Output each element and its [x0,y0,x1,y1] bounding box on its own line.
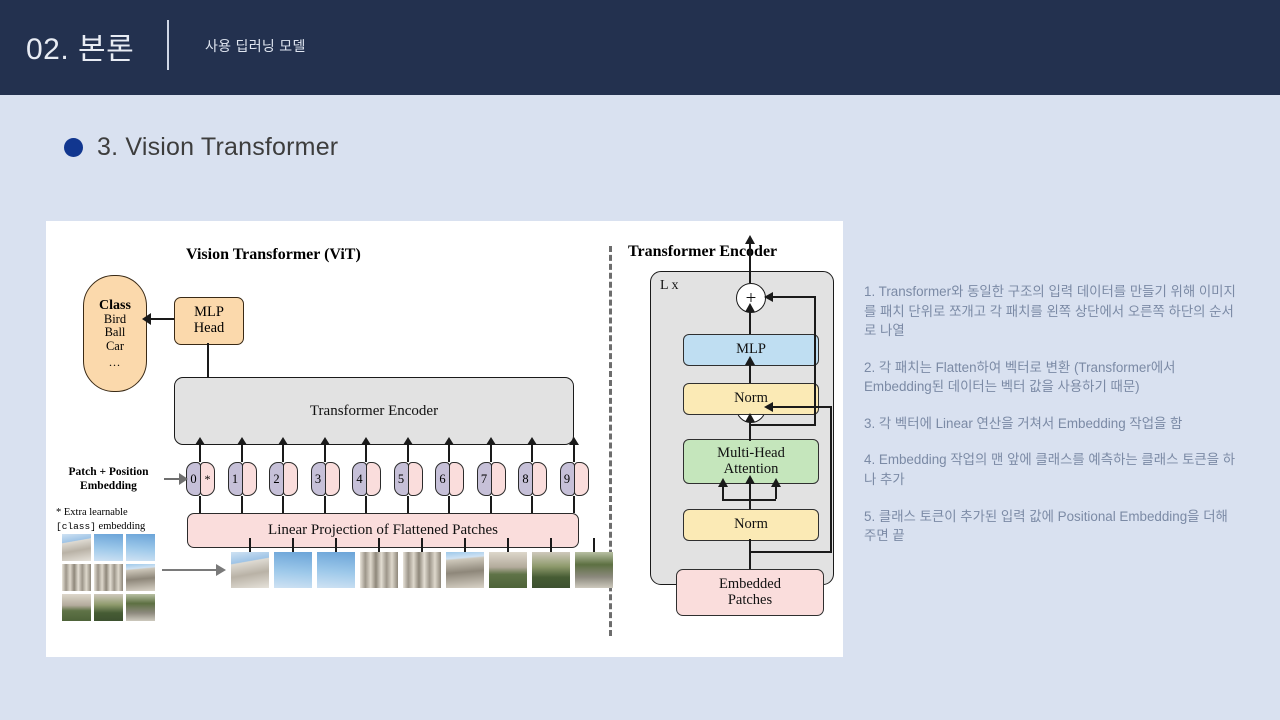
patch-token-8: 8 [518,462,548,496]
linear-projection-box: Linear Projection of Flattened Patches [187,513,579,548]
mlp-head-line1: MLP [194,305,224,321]
encoder-block-embedded-patches: Embedded Patches [676,569,824,616]
residual-skip-bottom-horizontal [773,406,832,408]
residual-skip-bottom-tap [749,551,832,553]
token-up-arrow-icon [407,444,409,462]
image-patch-cell [126,534,155,561]
token-up-arrow-icon [531,444,533,462]
note-item-2: 2. 각 패치는 Flatten하여 벡터로 변환 (Transformer에서… [864,358,1236,397]
class-item-ball: Ball [105,326,126,340]
token-up-arrow-icon [282,444,284,462]
patch-token-3: 3 [311,462,341,496]
flattened-patch [274,552,312,588]
pp-label-line1: Patch + Position [68,466,148,478]
residual-skip-top-tap [749,424,816,426]
flattened-patch [532,552,570,588]
note-item-3: 3. 각 벡터에 Linear 연산을 거쳐서 Embedding 작업을 함 [864,414,1236,434]
token-down-stem [199,496,201,513]
token-down-stem [448,496,450,513]
connector-norm1-to-mlp [749,364,751,383]
token-up-arrow-icon [365,444,367,462]
arrow-label-to-tokens [164,478,180,480]
note-item-4: 4. Embedding 작업의 맨 앞에 클래스를 예측하는 클래스 토큰을 … [864,450,1236,489]
mlp-head-box: MLP Head [174,297,244,345]
patch-token-0: 0* [186,462,216,496]
image-patch-cell [62,594,91,621]
token-down-stem [241,496,243,513]
patch-token-5: 5 [394,462,424,496]
token-position-half: 0 [186,462,201,496]
token-position-half: 2 [269,462,284,496]
token-down-stem [490,496,492,513]
residual-skip-bottom-vertical [830,407,832,552]
token-position-half: 8 [518,462,533,496]
image-patch-cell [94,534,123,561]
token-down-stem [407,496,409,513]
token-patch-half [574,462,589,496]
connector-emb-to-norm2 [749,539,751,569]
note-item-5: 5. 클래스 토큰이 추가된 입력 값에 Positional Embeddin… [864,507,1236,546]
figure-right-title: Transformer Encoder [628,243,777,261]
note-item-1: 1. Transformer와 동일한 구조의 입력 데이터를 만들기 위해 이… [864,282,1236,341]
flattened-patch-strip [231,552,613,588]
encoder-output-arrow [749,243,751,283]
patch-token-6: 6 [435,462,465,496]
patch-connector-stem [335,538,337,552]
bullet-dot-icon [64,138,83,157]
token-up-arrow-icon [573,444,575,462]
header-divider [167,20,169,70]
token-position-half: 5 [394,462,409,496]
token-patch-half [532,462,547,496]
figure-left-title: Vision Transformer (ViT) [186,246,361,264]
token-patch-half [491,462,506,496]
flattened-patch [446,552,484,588]
patch-token-7: 7 [477,462,507,496]
class-item-car: Car [106,340,124,354]
token-position-half: 3 [311,462,326,496]
mha-input-arrow-left [722,486,724,499]
embedded-patches-line2: Patches [728,593,772,609]
flattened-patch [360,552,398,588]
arrow-mlp-to-class-head-icon [142,313,151,325]
extra-learnable-note: * Extra learnable [class] embedding [56,506,166,533]
image-patch-cell [62,564,91,591]
page-title: 3. Vision Transformer [97,133,338,162]
token-patch-half [325,462,340,496]
patch-connector-stem [249,538,251,552]
token-patch-half [408,462,423,496]
encoder-block-norm-top: Norm [683,383,819,415]
token-down-stem [282,496,284,513]
encoder-repeat-label: L x [660,278,679,294]
image-patch-cell [94,594,123,621]
source-image-patch-grid [62,534,155,621]
token-patch-half [366,462,381,496]
image-patch-cell [94,564,123,591]
patch-connector-stem [593,538,595,552]
extra-note-tail: embedding [96,521,145,532]
token-up-arrow-icon [199,444,201,462]
slide-header-bar: 02. 본론 사용 딥러닝 모델 [0,0,1280,95]
token-position-half: 4 [352,462,367,496]
class-heading: Class [99,298,131,313]
page-title-row: 3. Vision Transformer [64,130,338,164]
token-down-stem [365,496,367,513]
patch-connector-stem [507,538,509,552]
token-up-arrow-icon [241,444,243,462]
token-down-stem [573,496,575,513]
patch-connector-stem [421,538,423,552]
pp-label-line2: Embedding [80,480,137,492]
extra-note-class-token: [class] [56,521,96,532]
header-subtitle: 사용 딥러닝 모델 [205,36,306,56]
token-up-arrow-icon [448,444,450,462]
mha-input-arrow-center [749,483,751,499]
header-section-number: 02. 본론 [26,24,134,68]
image-patch-cell [126,564,155,591]
token-patch-half [449,462,464,496]
encoder-block-norm-bottom: Norm [683,509,819,541]
patch-connector-stem [550,538,552,552]
class-ellipsis: ... [109,356,121,369]
token-position-half: 6 [435,462,450,496]
connector-mlp-to-encoder [207,343,209,377]
image-patch-cell [126,594,155,621]
extra-note-line1: * Extra learnable [56,507,128,518]
arrow-label-to-tokens-head-icon [179,473,188,485]
token-position-half: 9 [560,462,575,496]
flattened-patch [231,552,269,588]
token-position-half: 7 [477,462,492,496]
patch-connector-stem [292,538,294,552]
token-down-stem [324,496,326,513]
mlp-head-line2: Head [194,321,225,337]
token-patch-half: * [200,462,215,496]
flattened-patch [489,552,527,588]
patch-token-9: 9 [560,462,590,496]
patch-token-4: 4 [352,462,382,496]
patch-token-1: 1 [228,462,258,496]
patch-position-embedding-label: Patch + Position Embedding [56,465,161,493]
connector-mlp-to-add-top [749,311,751,334]
patch-connector-stem [464,538,466,552]
transformer-encoder-box: Transformer Encoder [174,377,574,445]
class-item-bird: Bird [104,313,126,327]
token-up-arrow-icon [490,444,492,462]
mha-line1: Multi-Head [717,446,785,462]
flattened-patch [575,552,613,588]
class-output-box: Class Bird Ball Car ... [83,275,147,392]
patch-token-2: 2 [269,462,299,496]
mha-input-bus [722,499,776,501]
patch-connector-stem [378,538,380,552]
token-down-stem [531,496,533,513]
flattened-patch [317,552,355,588]
arrow-grid-to-strip-head-icon [216,564,226,576]
mha-input-arrow-right [775,486,777,499]
explanation-notes: 1. Transformer와 동일한 구조의 입력 데이터를 만들기 위해 이… [864,282,1236,546]
embedded-patches-line1: Embedded [719,577,781,593]
flattened-patch [403,552,441,588]
patch-position-embedding-row: 0*123456789 [186,462,590,496]
token-up-arrow-icon [324,444,326,462]
arrow-grid-to-strip [162,569,217,571]
vit-figure-panel: Vision Transformer (ViT) Transformer Enc… [46,221,843,657]
residual-skip-top-horizontal [773,296,816,298]
token-patch-half [242,462,257,496]
token-patch-half [283,462,298,496]
token-position-half: 1 [228,462,243,496]
image-patch-cell [62,534,91,561]
